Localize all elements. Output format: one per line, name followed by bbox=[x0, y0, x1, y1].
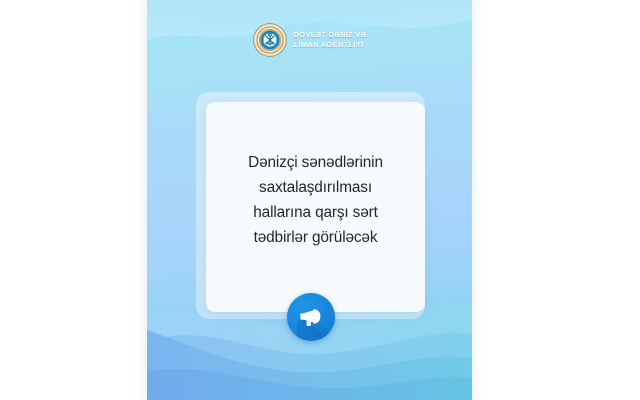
announcement-headline: Dənizçi sənədlərinin saxtalaşdırılması h… bbox=[206, 150, 425, 250]
screenshot-canvas: DÖVLƏT DƏNİZ VƏ LİMAN AGENTLİYİ Dənizçi … bbox=[0, 0, 640, 400]
agency-header: DÖVLƏT DƏNİZ VƏ LİMAN AGENTLİYİ bbox=[147, 23, 472, 57]
agency-name-label: DÖVLƏT DƏNİZ VƏ LİMAN AGENTLİYİ bbox=[294, 30, 367, 49]
announcement-poster: DÖVLƏT DƏNİZ VƏ LİMAN AGENTLİYİ Dənizçi … bbox=[147, 0, 472, 400]
megaphone-icon bbox=[287, 293, 335, 341]
megaphone-badge bbox=[287, 293, 335, 341]
state-maritime-agency-seal-icon bbox=[253, 23, 287, 57]
